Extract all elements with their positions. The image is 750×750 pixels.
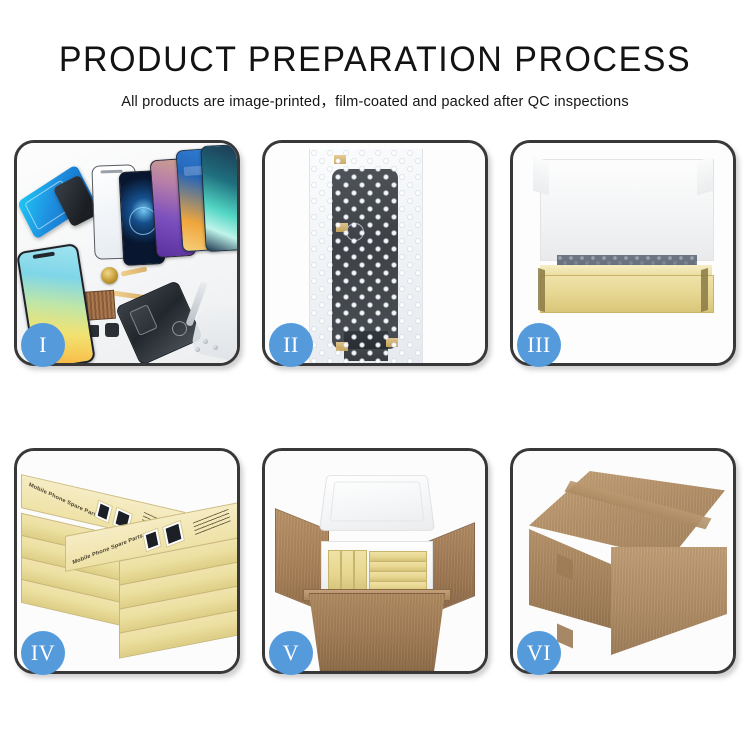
panel-products-overview[interactable]: I xyxy=(14,140,240,366)
page-subtitle: All products are image-printed，film-coat… xyxy=(0,77,750,110)
panel-stacked-inner-boxes[interactable]: Mobile Phone Spare Parts Mobile Phone Sp… xyxy=(14,448,240,674)
screw-part xyxy=(213,345,218,350)
box-tray xyxy=(540,275,714,313)
product-swatch xyxy=(94,499,113,523)
step-badge-1: I xyxy=(21,323,65,367)
box-lid-flap-left xyxy=(533,157,549,196)
box-tray-edge-left xyxy=(538,268,545,312)
box-lid xyxy=(540,159,714,261)
step-badge-5: V xyxy=(269,631,313,675)
step-badge-4: IV xyxy=(21,631,65,675)
vibrator-part xyxy=(105,323,119,337)
process-step-grid: I II xyxy=(14,140,740,674)
phone-teal-icon xyxy=(200,144,237,252)
bubble-wrap-bag xyxy=(309,149,423,363)
box-label: Mobile Phone Spare Parts xyxy=(28,482,99,520)
step-badge-6: VI xyxy=(517,631,561,675)
foam-cooler-lid xyxy=(319,475,435,531)
panel-carton-with-foam-cooler[interactable]: V xyxy=(262,448,488,674)
flex-cable-part xyxy=(121,266,147,276)
screw-part xyxy=(195,347,200,352)
page-title: PRODUCT PREPARATION PROCESS xyxy=(11,0,739,77)
header: PRODUCT PREPARATION PROCESS All products… xyxy=(0,0,750,110)
packed-box xyxy=(354,550,367,594)
panel-sealed-shipping-carton[interactable]: VI xyxy=(510,448,736,674)
product-preparation-infographic: PRODUCT PREPARATION PROCESS All products… xyxy=(0,0,750,750)
carton-front-wall xyxy=(309,593,445,671)
screw-part xyxy=(203,339,208,344)
box-spec-lines xyxy=(193,509,231,537)
product-swatch xyxy=(142,528,162,553)
panel-bubble-wrapped-part[interactable]: II xyxy=(262,140,488,366)
box-lid-flap-right xyxy=(697,157,713,196)
packed-box xyxy=(328,550,341,594)
speaker-coil-icon xyxy=(101,267,118,284)
box-tray-edge-right xyxy=(701,268,708,312)
step-badge-2: II xyxy=(269,323,313,367)
bubble-texture-icon xyxy=(310,149,422,363)
carton-right-face xyxy=(611,547,727,655)
product-swatch xyxy=(162,520,185,548)
panel-open-inner-box[interactable]: III xyxy=(510,140,736,366)
packed-box xyxy=(341,550,354,594)
step-badge-3: III xyxy=(517,323,561,367)
